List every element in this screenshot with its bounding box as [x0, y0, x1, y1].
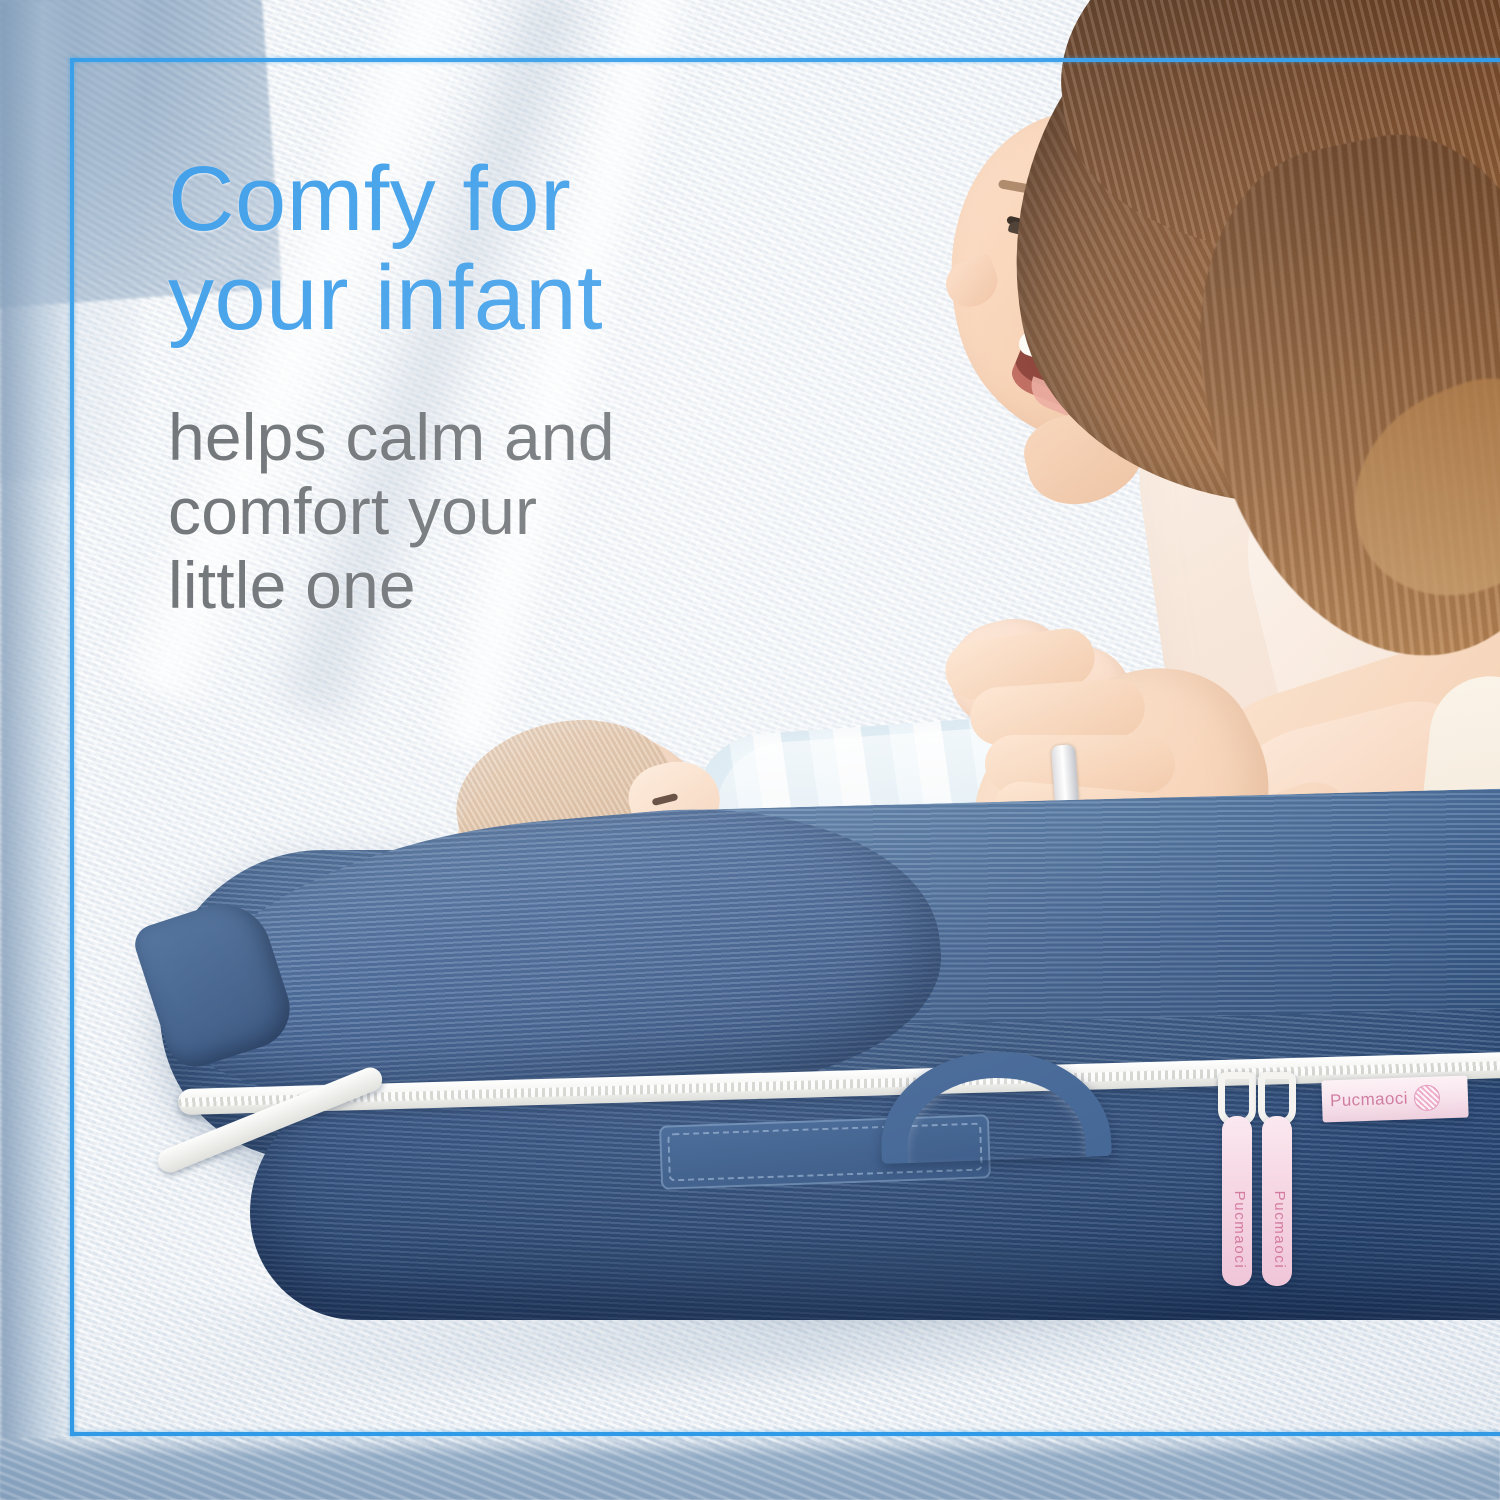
frame-border-left: [70, 58, 74, 1436]
blanket-edge-bottom: [0, 1438, 1500, 1500]
headline-line-1: Comfy for: [168, 148, 571, 250]
brand-label-text: Pucmaoci: [1330, 1089, 1408, 1112]
subheadline-line-1: helps calm and: [168, 401, 808, 475]
subheadline-line-3: little one: [168, 549, 808, 623]
frame-border-bottom: [70, 1432, 1500, 1436]
headline: Comfy for your infant: [168, 150, 808, 349]
lounger-shadow: [340, 1250, 1500, 1360]
zipper-pull-tab-1: Pucmaoci: [1222, 1116, 1252, 1286]
blanket-edge-left: [0, 0, 78, 1500]
pucmaoci-circle-logo-icon: [1413, 1084, 1440, 1111]
zipper-pull-brand-text-1: Pucmaoci: [1231, 1150, 1248, 1310]
marketing-copy-block: Comfy for your infant helps calm and com…: [168, 150, 808, 622]
baby-lounger-product: [120, 790, 1500, 1350]
zipper-pull-brand-text-2: Pucmaoci: [1271, 1150, 1288, 1310]
headline-line-2: your infant: [168, 249, 808, 348]
brand-label: Pucmaoci: [1321, 1075, 1468, 1122]
subheadline-line-2: comfort your: [168, 475, 808, 549]
frame-border-top: [70, 58, 1500, 62]
zipper-pull-tab-2: Pucmaoci: [1262, 1116, 1292, 1286]
subheadline: helps calm and comfort your little one: [168, 401, 808, 623]
product-lifestyle-image: Pucmaoci Pucmaoci Pucmaoci Comfy for you…: [0, 0, 1500, 1500]
